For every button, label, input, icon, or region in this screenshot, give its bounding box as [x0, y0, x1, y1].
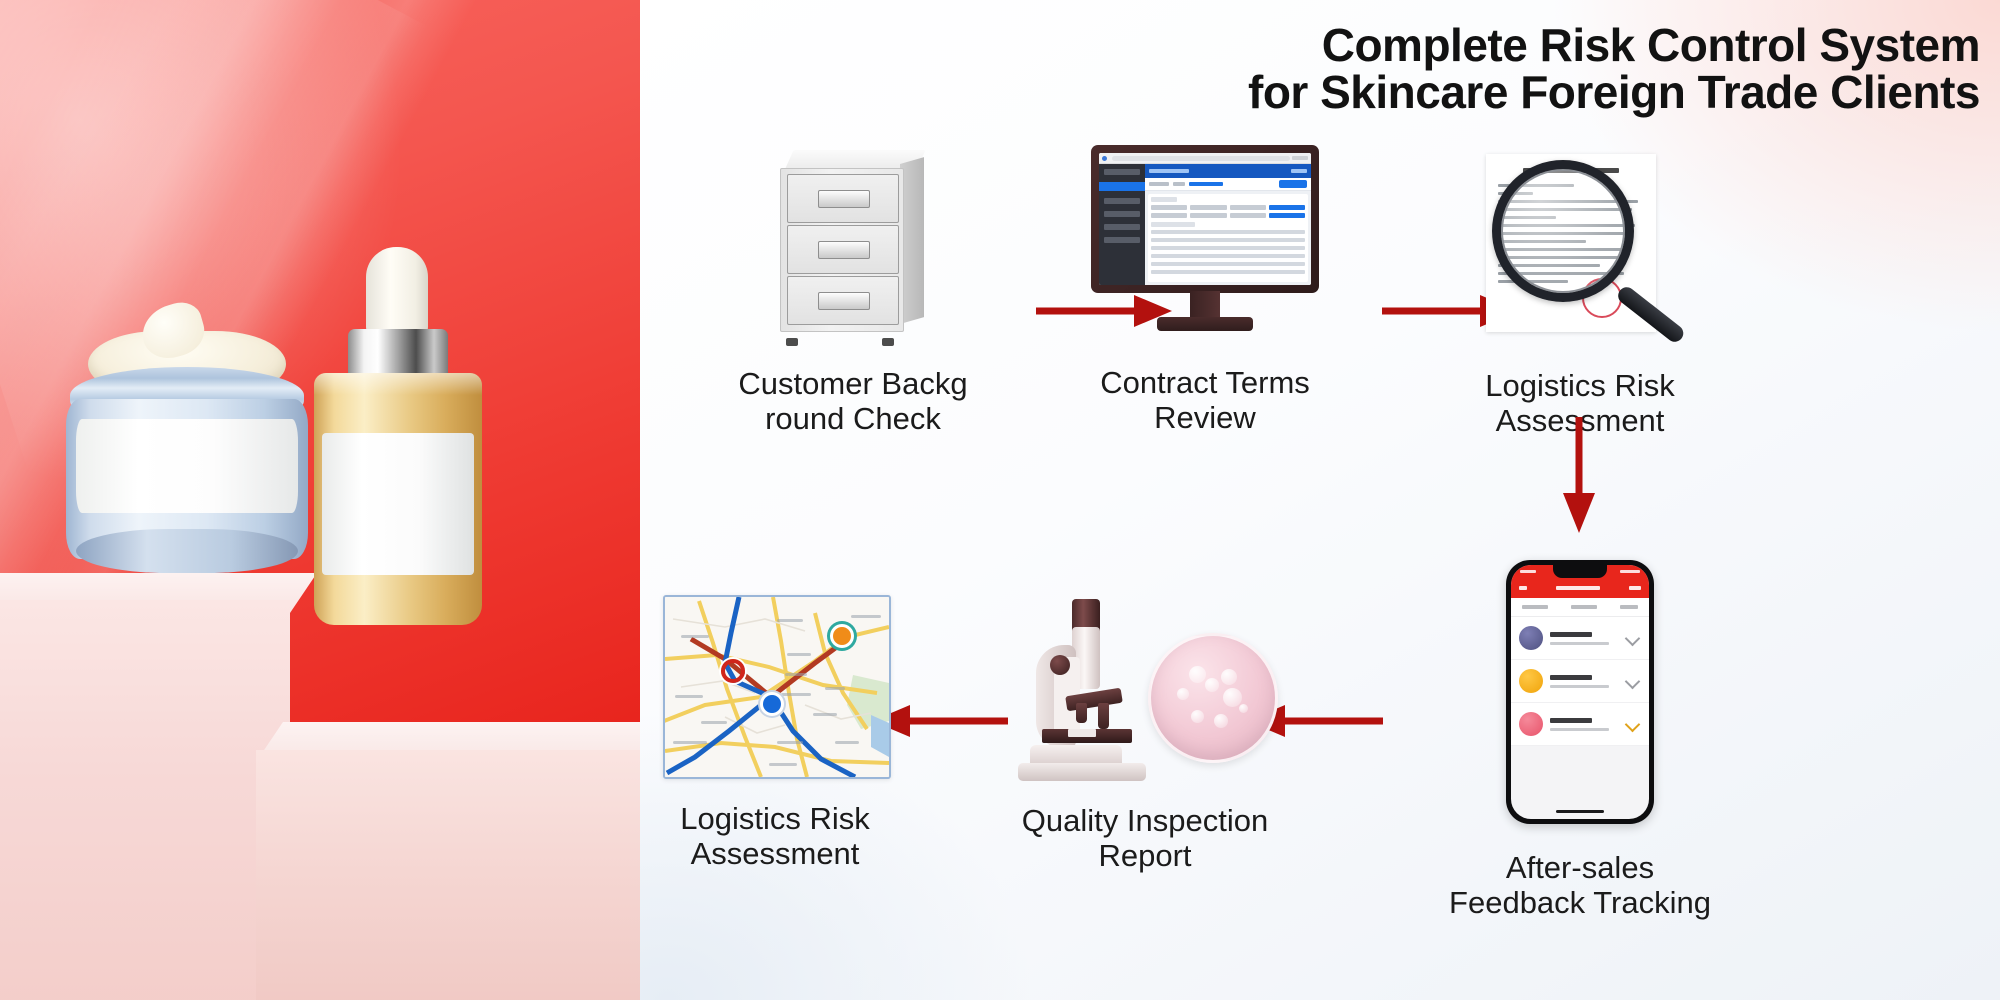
- microscope-petri-dish-icon: [1010, 585, 1280, 785]
- map-marker-origin[interactable]: [833, 627, 851, 645]
- chevron-down-icon[interactable]: [1625, 630, 1641, 646]
- skincare-product-photo: [0, 0, 640, 1000]
- flow-node-label: Logistics Risk Assessment: [640, 801, 950, 872]
- filing-cabinet-icon: [778, 150, 928, 340]
- podium-left: [0, 600, 290, 1000]
- feedback-list-item[interactable]: [1511, 703, 1649, 746]
- flow-node-label: After-sales Feedback Tracking: [1420, 850, 1740, 921]
- flow-node-label: Contract Terms Review: [1035, 365, 1375, 436]
- flow-node-logistics-risk-assessment-bottom[interactable]: Logistics Risk Assessment: [640, 595, 950, 872]
- jar-base: [76, 529, 298, 573]
- map-marker-hub[interactable]: [763, 695, 781, 713]
- feedback-list-item[interactable]: [1511, 617, 1649, 660]
- petri-dish-icon: [1148, 633, 1278, 763]
- page-title: Complete Risk Control System for Skincar…: [890, 22, 1980, 116]
- arrow-down-3: [1555, 415, 1603, 535]
- avatar: [1519, 626, 1543, 650]
- smartphone-icon: [1506, 560, 1654, 824]
- avatar: [1519, 712, 1543, 736]
- chevron-down-icon[interactable]: [1625, 716, 1641, 732]
- feedback-list-item[interactable]: [1511, 660, 1649, 703]
- flow-node-after-sales-feedback-tracking[interactable]: After-sales Feedback Tracking: [1420, 560, 1740, 921]
- infographic-root: Complete Risk Control System for Skincar…: [0, 0, 2000, 1000]
- cream-jar: [62, 331, 312, 591]
- bottle-label: [322, 433, 474, 575]
- serum-dropper-bottle: [300, 247, 496, 635]
- flow-node-contract-terms-review[interactable]: Contract Terms Review: [1035, 145, 1375, 436]
- flow-node-label: Customer Backg round Check: [678, 366, 1028, 437]
- jar-label: [76, 419, 298, 513]
- flow-node-label: Quality Inspection Report: [980, 803, 1310, 874]
- microscope-focus-knob: [1050, 655, 1070, 675]
- podium-right: [256, 750, 640, 1000]
- risk-control-flow-diagram: Complete Risk Control System for Skincar…: [640, 0, 2000, 1000]
- flow-node-quality-inspection-report[interactable]: Quality Inspection Report: [980, 585, 1310, 874]
- magnifier-lens-icon: [1492, 160, 1634, 302]
- chevron-down-icon[interactable]: [1625, 673, 1641, 689]
- avatar: [1519, 669, 1543, 693]
- map-icon: [663, 595, 887, 775]
- desktop-monitor-icon: [1091, 145, 1319, 345]
- map-marker-risk[interactable]: [721, 659, 745, 683]
- magnifier-document-icon: [1474, 150, 1686, 346]
- flow-node-logistics-risk-assessment-top[interactable]: Logistics Risk Assessment: [1415, 150, 1745, 439]
- flow-node-customer-background-check[interactable]: Customer Backg round Check: [678, 150, 1028, 437]
